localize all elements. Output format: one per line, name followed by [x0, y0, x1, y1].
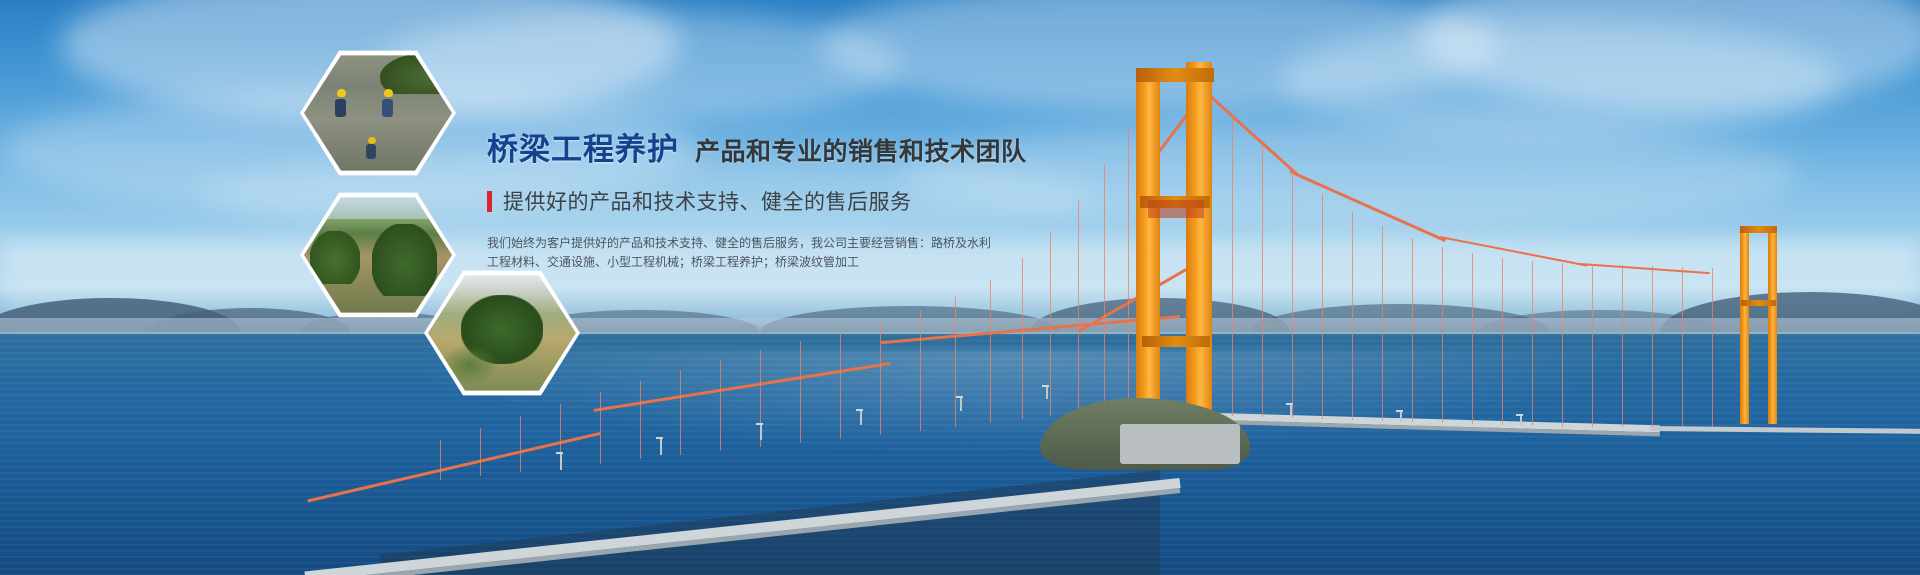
accent-bar-icon: [487, 191, 492, 212]
banner-subtitle-row: 提供好的产品和技术支持、健全的售后服务: [487, 186, 1007, 216]
thumbnail-vegetated-slope-mesh[interactable]: [424, 268, 580, 398]
tower-nameplate: [1148, 200, 1204, 218]
bridge-deck-far: [1650, 426, 1920, 434]
main-cable-right-b: [1289, 170, 1446, 242]
hero-banner: 桥梁工程养护 产品和专业的销售和技术团队 提供好的产品和技术支持、健全的售后服务…: [0, 0, 1920, 575]
bridge-tower-far-crossbeam-top: [1740, 226, 1777, 233]
vegetated-slope-mesh-icon: [428, 273, 576, 393]
headline-main-title: 桥梁工程养护: [487, 124, 679, 169]
bridge-tower-far-left-leg: [1740, 228, 1749, 424]
banner-subtitle: 提供好的产品和技术支持、健全的售后服务: [503, 186, 912, 216]
banner-paragraph-line-2: 工程材料、交通设施、小型工程机械；桥梁工程养护；桥梁波纹管加工: [487, 253, 887, 272]
main-cable-left-a: [307, 432, 600, 502]
bridge-tower-near-left-leg: [1136, 72, 1160, 434]
banner-headline: 桥梁工程养护 产品和专业的销售和技术团队: [487, 124, 1007, 169]
main-cable-right-d: [1580, 263, 1710, 274]
thumbnail-rockfall-netting-workers[interactable]: [300, 48, 456, 178]
bridge-tower-near-crossbeam-low: [1142, 336, 1210, 347]
bridge-tower-far-right-leg: [1768, 228, 1777, 424]
bridge-tower-near-right-leg: [1186, 62, 1212, 434]
main-cable-left-b: [593, 362, 890, 412]
pier-foundation: [1120, 424, 1240, 464]
rockfall-netting-workers-icon: [304, 53, 452, 173]
banner-paragraph-line-1: 我们始终为客户提供好的产品和技术支持、健全的售后服务，我公司主要经营销售：路桥及…: [487, 234, 887, 253]
bridge-tower-near-crossbeam-top: [1136, 68, 1214, 82]
headline-secondary-title: 产品和专业的销售和技术团队: [695, 132, 1027, 168]
bridge-tower-far-crossbeam-mid: [1741, 300, 1776, 306]
suspension-bridge: [0, 0, 1920, 575]
banner-paragraph: 我们始终为客户提供好的产品和技术支持、健全的售后服务，我公司主要经营销售：路桥及…: [487, 234, 887, 272]
banner-text-block: 桥梁工程养护 产品和专业的销售和技术团队 提供好的产品和技术支持、健全的售后服务…: [487, 124, 1007, 272]
main-cable-right-c: [1440, 236, 1588, 267]
